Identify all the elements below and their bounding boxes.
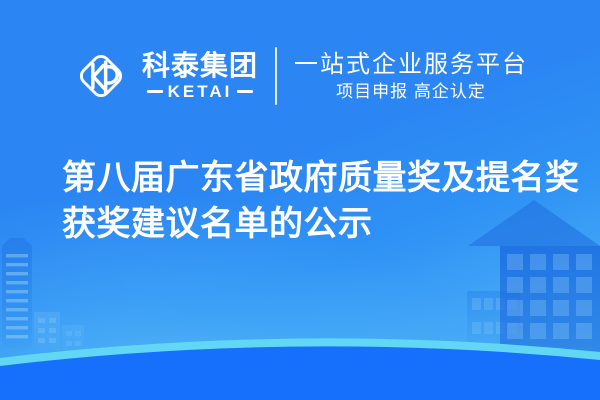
page-title-line-2: 获奖建议名单的公示 — [62, 201, 562, 247]
dash-right-icon — [237, 90, 253, 93]
brand-name-cn: 科泰集团 — [142, 52, 258, 80]
ketai-diamond-monogram-icon — [72, 47, 130, 105]
left-small-building-icon — [34, 312, 60, 350]
wave-divider — [0, 338, 600, 400]
dash-left-icon — [147, 90, 163, 93]
tagline-main: 一站式企业服务平台 — [294, 53, 528, 77]
tagline-sub: 项目申报 高企认定 — [294, 83, 528, 100]
banner-header: 科泰集团 KETAI 一站式企业服务平台 项目申报 高企认定 — [0, 36, 600, 116]
brand-wordmark: 科泰集团 KETAI — [142, 52, 258, 100]
brand-name-en: KETAI — [168, 83, 233, 100]
brand-name-en-row: KETAI — [142, 83, 258, 100]
page-title-line-1: 第八届广东省政府质量奖及提名奖 — [62, 155, 562, 201]
brand-logo[interactable]: 科泰集团 KETAI — [72, 47, 258, 105]
header-divider — [275, 47, 277, 105]
tagline-block: 一站式企业服务平台 项目申报 高企认定 — [294, 53, 528, 100]
left-tower-icon — [2, 238, 32, 348]
promo-banner: 科泰集团 KETAI 一站式企业服务平台 项目申报 高企认定 第八届广东省政府质… — [0, 0, 600, 400]
left-mid-building-icon — [62, 325, 84, 350]
page-title: 第八届广东省政府质量奖及提名奖 获奖建议名单的公示 — [62, 155, 562, 247]
